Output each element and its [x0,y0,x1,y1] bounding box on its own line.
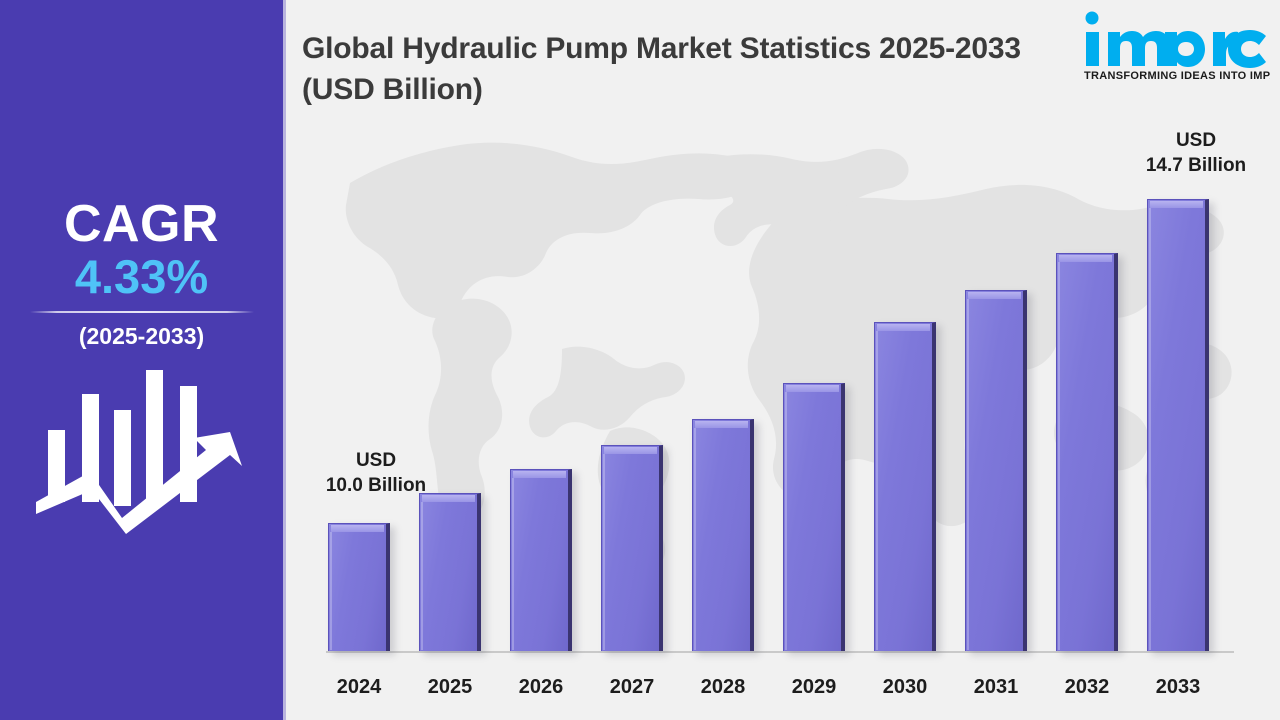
bar-label-2030: 2030 [874,676,936,699]
cagr-value: 4.33% [0,251,283,303]
bar-label-2026: 2026 [510,676,572,699]
bar-label-2032: 2032 [1056,676,1118,699]
cagr-sidebar: CAGR 4.33% (2025-2033) [0,0,283,720]
bar-label-2029: 2029 [783,676,845,699]
cagr-title: CAGR [0,195,283,253]
bar-2026[interactable] [510,469,572,651]
bar-group: 2033 [1147,199,1209,651]
bar-group: 2029 [783,383,845,651]
bar-group: 2032 [1056,253,1118,651]
bar-group: 2030 [874,322,936,651]
bar-label-2033: 2033 [1147,676,1209,699]
callout-amount-last: 14.7 Billion [1116,153,1276,178]
bar-2027[interactable] [601,445,663,651]
bar-group: 2025 [419,493,481,651]
sidebar-edge [283,0,286,720]
bar-group: 2028 [692,419,754,651]
callout-currency-last: USD [1116,128,1276,153]
bar-label-2024: 2024 [328,676,390,699]
cagr-block: CAGR 4.33% (2025-2033) [0,195,283,350]
bar-2032[interactable] [1056,253,1118,651]
cagr-divider [30,311,254,313]
bar-group: 2024 [328,523,390,651]
bar-group: 2031 [965,290,1027,651]
bar-label-2027: 2027 [601,676,663,699]
bar-chart-plot: USD 10.0 Billion USD 14.7 Billion 2024 2… [286,0,1280,720]
bar-2024[interactable] [328,523,390,651]
callout-currency-first: USD [296,448,456,473]
bar-2031[interactable] [965,290,1027,651]
bar-label-2028: 2028 [692,676,754,699]
chart-panel: Global Hydraulic Pump Market Statistics … [286,0,1280,720]
bar-2028[interactable] [692,419,754,651]
bar-label-2025: 2025 [419,676,481,699]
value-callout-first: USD 10.0 Billion [296,448,456,498]
bar-2029[interactable] [783,383,845,651]
bar-label-2031: 2031 [965,676,1027,699]
bar-2033[interactable] [1147,199,1209,651]
bar-2030[interactable] [874,322,936,651]
cagr-period: (2025-2033) [0,323,283,350]
bar-group: 2026 [510,469,572,651]
bar-2025[interactable] [419,493,481,651]
axis-baseline [326,651,1234,653]
bar-group: 2027 [601,445,663,651]
bar-chart-growth-arrow-icon [34,362,258,534]
value-callout-last: USD 14.7 Billion [1116,128,1276,178]
